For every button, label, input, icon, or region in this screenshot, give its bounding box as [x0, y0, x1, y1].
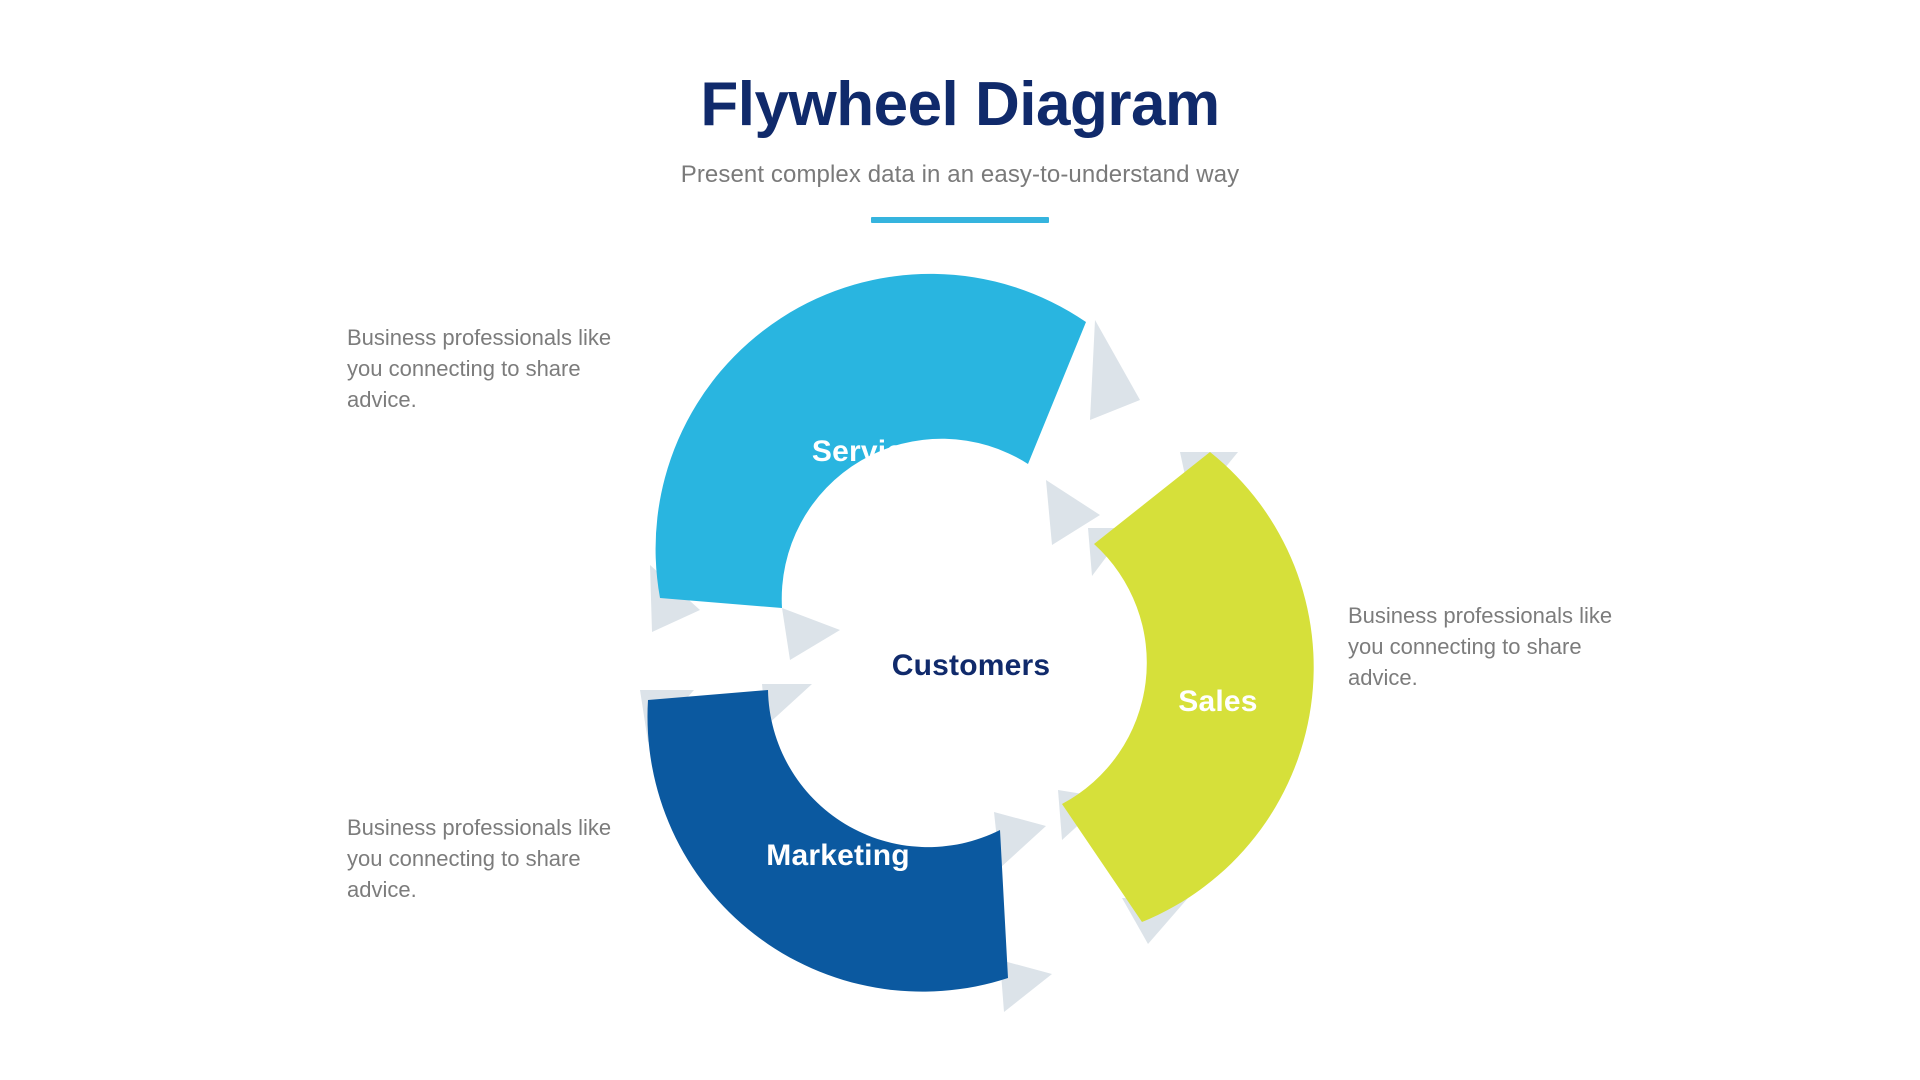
segment-sales[interactable] [1062, 452, 1314, 922]
flywheel-svg [0, 0, 1920, 1080]
shadow-service-inner2 [782, 608, 840, 660]
description-service: Business professionals like you connecti… [347, 322, 615, 416]
shadow-marketing-inner2 [994, 812, 1046, 868]
flywheel-diagram: Service Sales Marketing Customers [0, 0, 1920, 1080]
description-sales: Business professionals like you connecti… [1348, 600, 1638, 694]
segment-service[interactable] [656, 274, 1086, 608]
shadow-service-lead [1090, 320, 1140, 420]
description-marketing: Business professionals like you connecti… [347, 812, 615, 906]
flywheel-hub[interactable] [867, 562, 1075, 770]
slide-canvas: Flywheel Diagram Present complex data in… [0, 0, 1920, 1080]
shadow-marketing-tail [1000, 960, 1052, 1012]
